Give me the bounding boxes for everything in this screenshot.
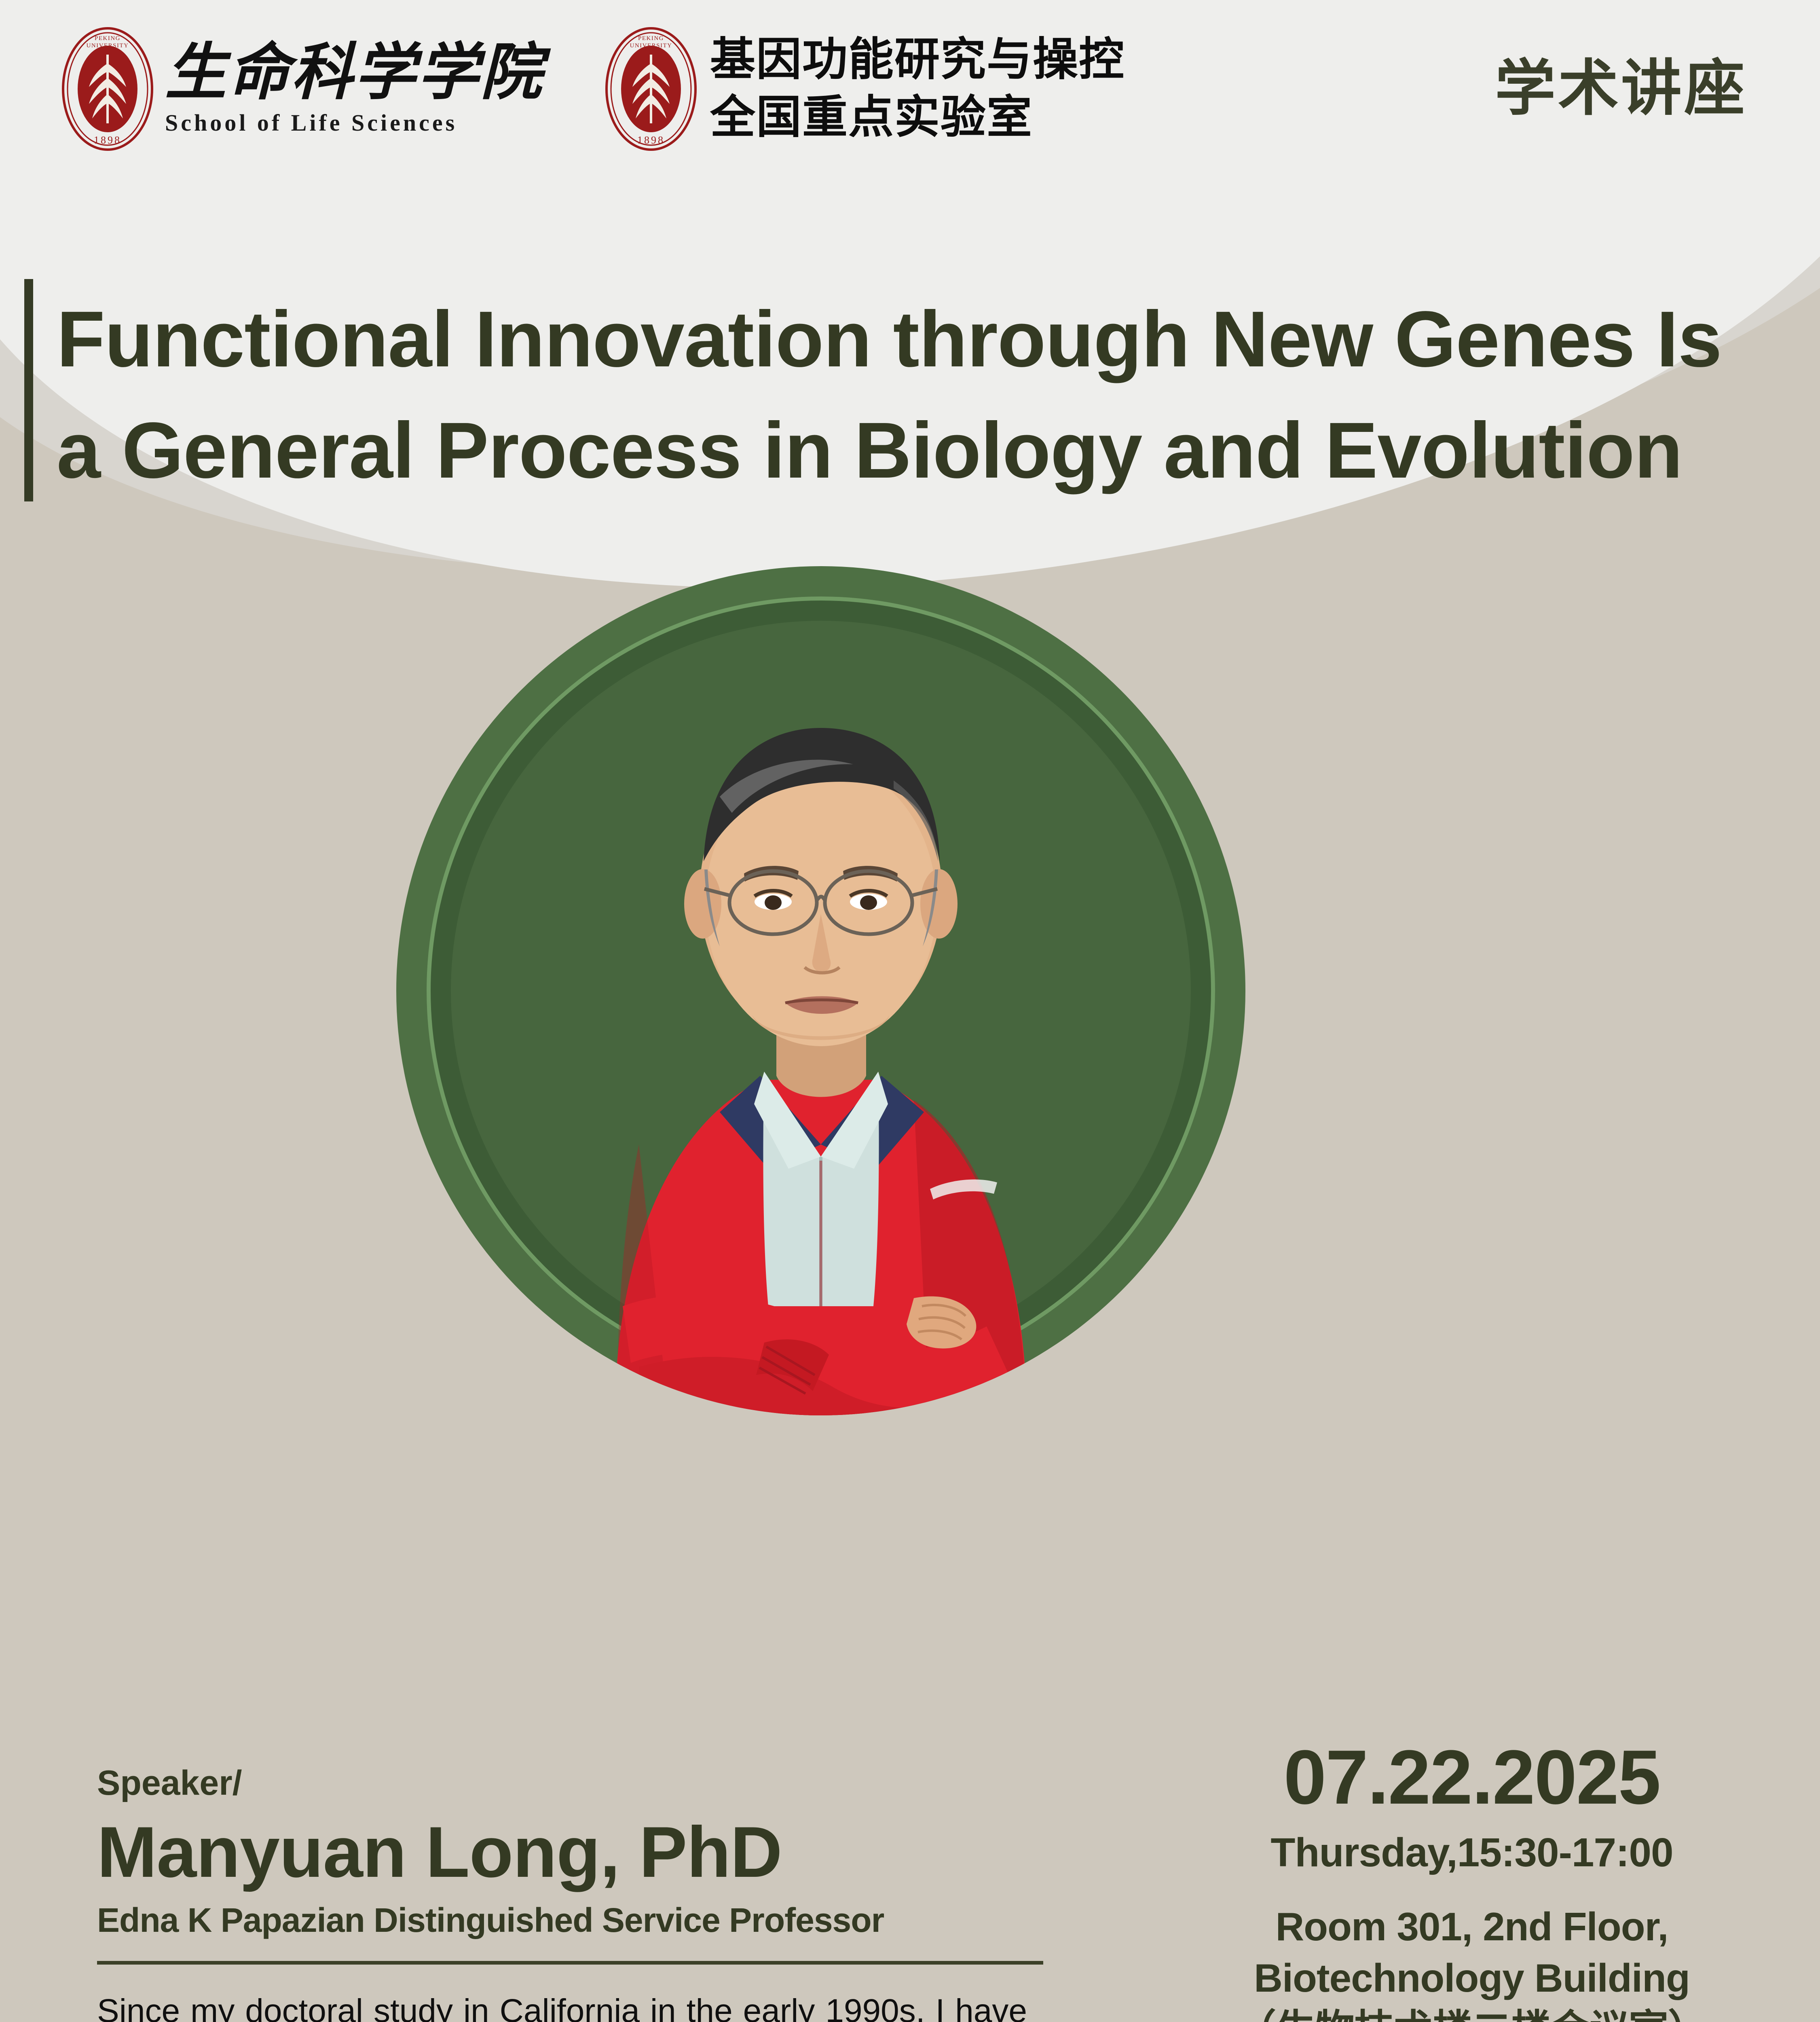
lecture-banner: 学术讲座 [1495, 59, 1747, 119]
svg-text:UNIVERSITY: UNIVERSITY [630, 42, 672, 49]
school-name: 生命科学学院 School of Life Sciences [165, 42, 543, 136]
lab-name-line1: 基因功能研究与操控 [710, 31, 1125, 89]
speaker-divider [97, 1961, 1043, 1965]
portrait-illustration: 2023.10.19 [356, 538, 1286, 1646]
lab-name: 基因功能研究与操控 全国重点实验室 [710, 31, 1125, 147]
event-venue: Room 301, 2nd Floor, Biotechnology Build… [1189, 1901, 1755, 2022]
school-name-en: School of Life Sciences [165, 109, 543, 136]
event-date: 07.22.2025 [1189, 1739, 1755, 1816]
venue-line-1: Room 301, 2nd Floor, [1189, 1901, 1755, 1952]
title-text-block: Functional Innovation through New Genes … [57, 279, 1722, 501]
speaker-label: Speaker/ [97, 1763, 1059, 1803]
venue-line-2: Biotechnology Building [1189, 1952, 1755, 2004]
svg-text:1898: 1898 [94, 134, 121, 146]
svg-text:PEKING: PEKING [638, 35, 664, 42]
poster-header: PEKING UNIVERSITY 1898 生命科学学院 School of … [0, 0, 1820, 178]
speaker-portrait: 2023.10.19 [356, 538, 1286, 1646]
event-details: 07.22.2025 Thursday,15:30-17:00 Room 301… [1189, 1739, 1755, 2022]
speaker-section: Speaker/ Manyuan Long, PhD Edna K Papazi… [97, 1763, 1059, 2022]
svg-text:1898: 1898 [637, 134, 665, 146]
school-name-cn: 生命科学学院 [165, 42, 543, 104]
svg-text:UNIVERSITY: UNIVERSITY [87, 42, 129, 49]
svg-text:PEKING: PEKING [95, 35, 120, 42]
title-accent-bar [24, 279, 33, 501]
school-branding: PEKING UNIVERSITY 1898 生命科学学院 School of … [61, 26, 543, 152]
abstract-text: Since my doctoral study in California in… [97, 1988, 1027, 2022]
lab-branding: PEKING UNIVERSITY 1898 基因功能研究与操控 全国重点实验室 [604, 26, 1125, 152]
venue-line-cn: （生物技术楼二楼会议室） [1189, 2004, 1755, 2022]
lecture-poster: PEKING UNIVERSITY 1898 生命科学学院 School of … [0, 0, 1820, 2022]
peking-university-seal-icon: PEKING UNIVERSITY 1898 [61, 26, 154, 152]
lab-name-line2: 全国重点实验室 [710, 89, 1125, 147]
poster-title: Functional Innovation through New Genes … [24, 279, 1779, 501]
event-day-time: Thursday,15:30-17:00 [1189, 1830, 1755, 1876]
lecture-banner-label: 学术讲座 [1495, 59, 1747, 119]
peking-university-seal-icon-2: PEKING UNIVERSITY 1898 [604, 26, 698, 152]
title-line-2: a General Process in Biology and Evoluti… [57, 390, 1722, 501]
artist-signature-date: 2023.10.19 [758, 1459, 858, 1494]
speaker-name: Manyuan Long, PhD [97, 1815, 1059, 1890]
title-line-1: Functional Innovation through New Genes … [57, 279, 1722, 390]
speaker-title: Edna K Papazian Distinguished Service Pr… [97, 1901, 1059, 1940]
